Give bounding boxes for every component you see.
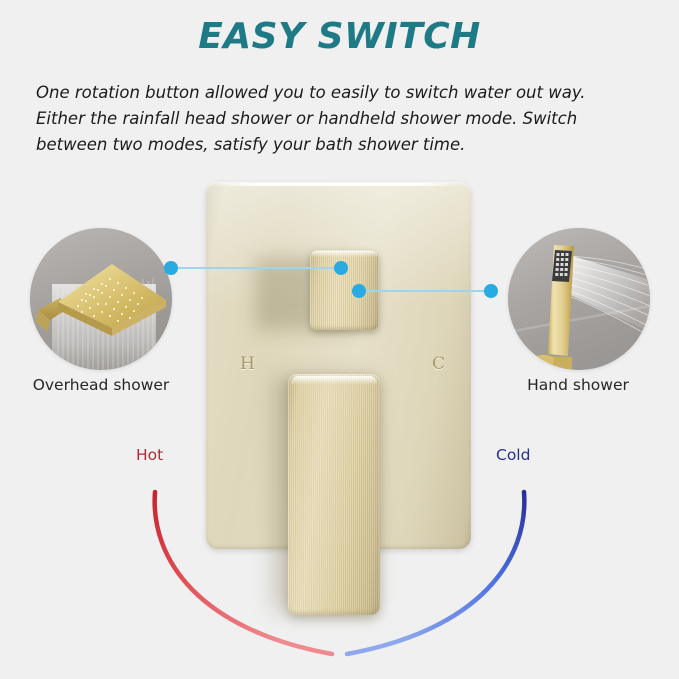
cold-engraving-mark: C — [432, 354, 445, 374]
hand-shower-photo — [508, 228, 650, 370]
handheld-shower-wand-icon — [508, 228, 650, 370]
description-line-2: Either the rainfall head shower or handh… — [36, 106, 656, 132]
connector-dot-overhead-button — [334, 261, 348, 275]
connector-dot-overhead-circle — [164, 261, 178, 275]
hand-shower-label: Hand shower — [478, 376, 678, 394]
description-line-1: One rotation button allowed you to easil… — [36, 80, 656, 106]
description-line-3: between two modes, satisfy your bath sho… — [36, 132, 656, 158]
description-block: One rotation button allowed you to easil… — [36, 80, 656, 158]
diverter-top-highlight — [311, 251, 378, 257]
connector-dot-handshower-circle — [484, 284, 498, 298]
rainfall-shower-head-icon — [30, 228, 172, 370]
overhead-shower-label: Overhead shower — [1, 376, 201, 394]
plate-edge-highlight — [208, 183, 469, 186]
connector-line-overhead — [178, 267, 346, 269]
hot-engraving-mark: H — [240, 354, 255, 374]
page-title: EASY SWITCH — [0, 16, 679, 57]
cold-label: Cold — [496, 446, 530, 464]
hot-label: Hot — [136, 446, 163, 464]
lever-brushed-texture — [288, 374, 380, 615]
overhead-shower-photo — [30, 228, 172, 370]
connector-line-handshower — [366, 290, 492, 292]
connector-dot-handshower-button — [352, 284, 366, 298]
lever-handle[interactable] — [288, 374, 380, 615]
easy-switch-infographic: EASY SWITCH One rotation button allowed … — [0, 0, 679, 679]
lever-top-highlight — [291, 376, 377, 385]
